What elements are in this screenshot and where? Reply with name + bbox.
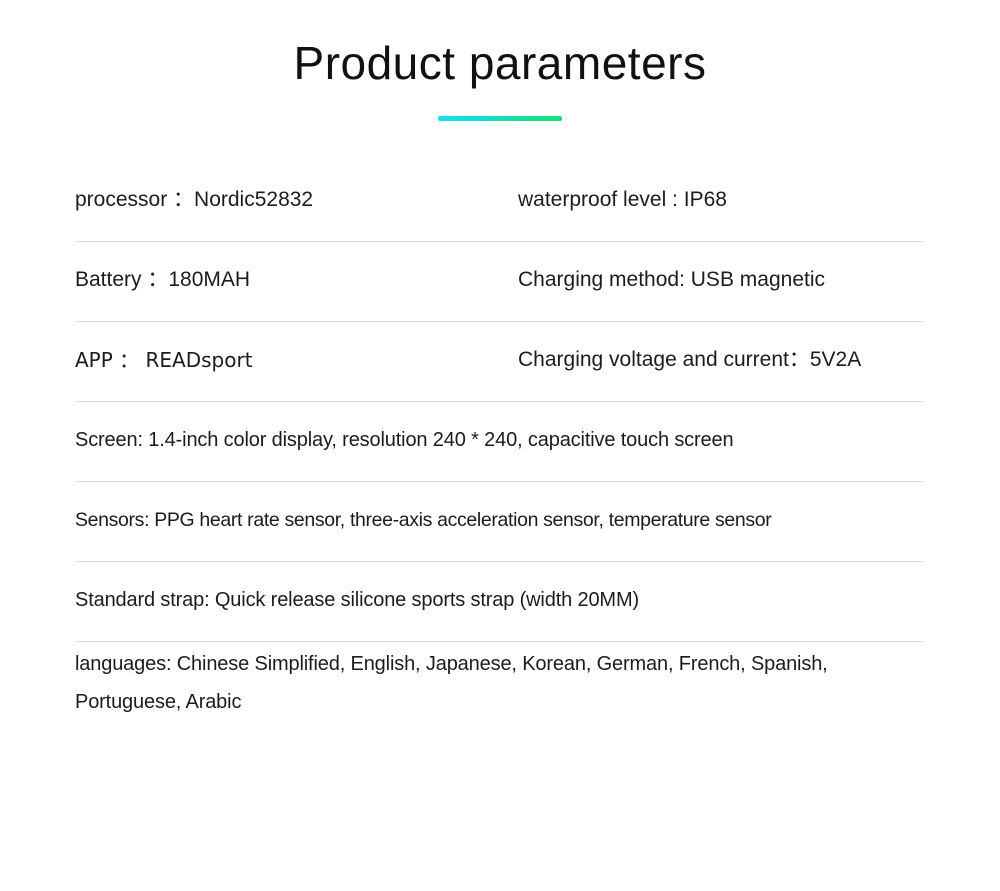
spec-row-battery: Battery ：180MAH Charging method: USB mag… [75, 241, 925, 321]
spec-value-languages: languages: Chinese Simplified, English, … [75, 645, 925, 722]
spec-value-battery: Battery ：180MAH [75, 265, 518, 295]
page-title: Product parameters [0, 38, 1000, 89]
product-parameters-page: Product parameters processor ：Nordic5283… [0, 0, 1000, 891]
spec-value-charging-voltage-current: Charging voltage and current：5V2A [518, 345, 925, 375]
spec-row-screen: Screen: 1.4-inch color display, resoluti… [75, 401, 925, 481]
spec-value-processor: processor ：Nordic52832 [75, 185, 518, 215]
spec-value-waterproof-level: waterproof level : IP68 [518, 185, 925, 215]
spec-table: processor ：Nordic52832 waterproof level … [75, 121, 925, 726]
spec-value-sensors: Sensors: PPG heart rate sensor, three-ax… [75, 506, 925, 534]
spec-row-sensors: Sensors: PPG heart rate sensor, three-ax… [75, 481, 925, 561]
spec-value-screen: Screen: 1.4-inch color display, resoluti… [75, 426, 925, 455]
spec-row-processor: processor ：Nordic52832 waterproof level … [75, 161, 925, 241]
spec-row-app: APP ： READsport Charging voltage and cur… [75, 321, 925, 401]
spec-value-app: APP ： READsport [75, 346, 518, 375]
spec-value-standard-strap: Standard strap: Quick release silicone s… [75, 586, 925, 615]
spec-value-charging-method: Charging method: USB magnetic [518, 265, 925, 295]
spec-row-standard-strap: Standard strap: Quick release silicone s… [75, 561, 925, 641]
spec-row-languages: languages: Chinese Simplified, English, … [75, 641, 925, 726]
title-block: Product parameters [0, 0, 1000, 121]
